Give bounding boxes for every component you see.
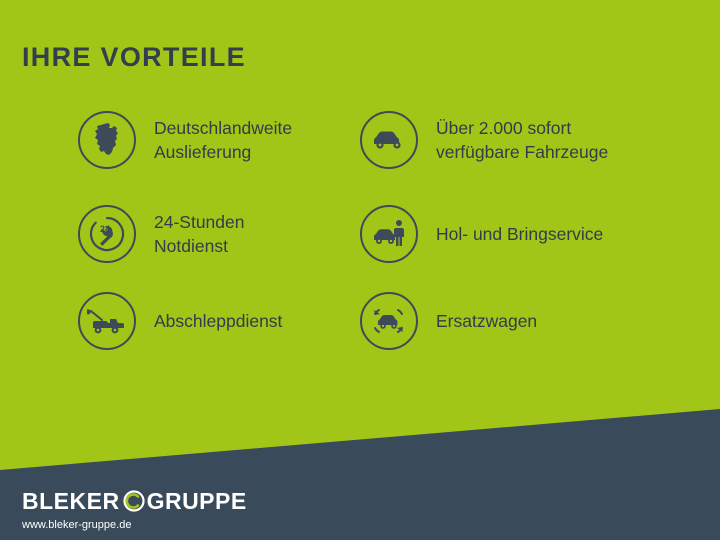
benefit-label: Abschleppdienst — [154, 309, 282, 333]
benefit-item-hol-und-bringservice: Hol- und Bringservice — [360, 205, 603, 263]
tow-truck-icon — [78, 292, 136, 350]
logo-row: BLEKER GRUPPE — [22, 488, 247, 514]
benefit-label: Hol- und Bringservice — [436, 222, 603, 246]
car-icon — [360, 111, 418, 169]
circle-c-icon — [122, 489, 146, 513]
car-person-icon — [360, 205, 418, 263]
benefit-item-deutschlandweite-auslieferung: Deutschlandweite Auslieferung — [78, 111, 292, 169]
logo-text-bleker: BLEKER — [22, 488, 120, 514]
green-background-panel — [0, 0, 720, 540]
footer-logo-block: BLEKER GRUPPE www.bleker-gruppe.de — [22, 488, 247, 531]
benefit-label: Deutschlandweite Auslieferung — [154, 116, 292, 164]
slide-canvas: IHRE VORTEILE Deutschlandweite Ausliefer… — [0, 0, 720, 540]
germany-map-icon — [78, 111, 136, 169]
wrench-24h-icon: 24 — [78, 205, 136, 263]
benefit-item-24-stunden-notdienst: 24 24-Stunden Notdienst — [78, 205, 245, 263]
benefit-item-ersatzwagen: Ersatzwagen — [360, 292, 537, 350]
car-arrows-icon — [360, 292, 418, 350]
page-title: IHRE VORTEILE — [22, 42, 246, 73]
benefit-label: Ersatzwagen — [436, 309, 537, 333]
benefit-label: Über 2.000 sofort verfügbare Fahrzeuge — [436, 116, 608, 164]
benefit-item-abschleppdienst: Abschleppdienst — [78, 292, 282, 350]
logo-text-gruppe: GRUPPE — [147, 488, 247, 514]
footer-url: www.bleker-gruppe.de — [22, 519, 247, 531]
benefit-label: 24-Stunden Notdienst — [154, 210, 245, 258]
benefit-item-verfuegbare-fahrzeuge: Über 2.000 sofort verfügbare Fahrzeuge — [360, 111, 608, 169]
